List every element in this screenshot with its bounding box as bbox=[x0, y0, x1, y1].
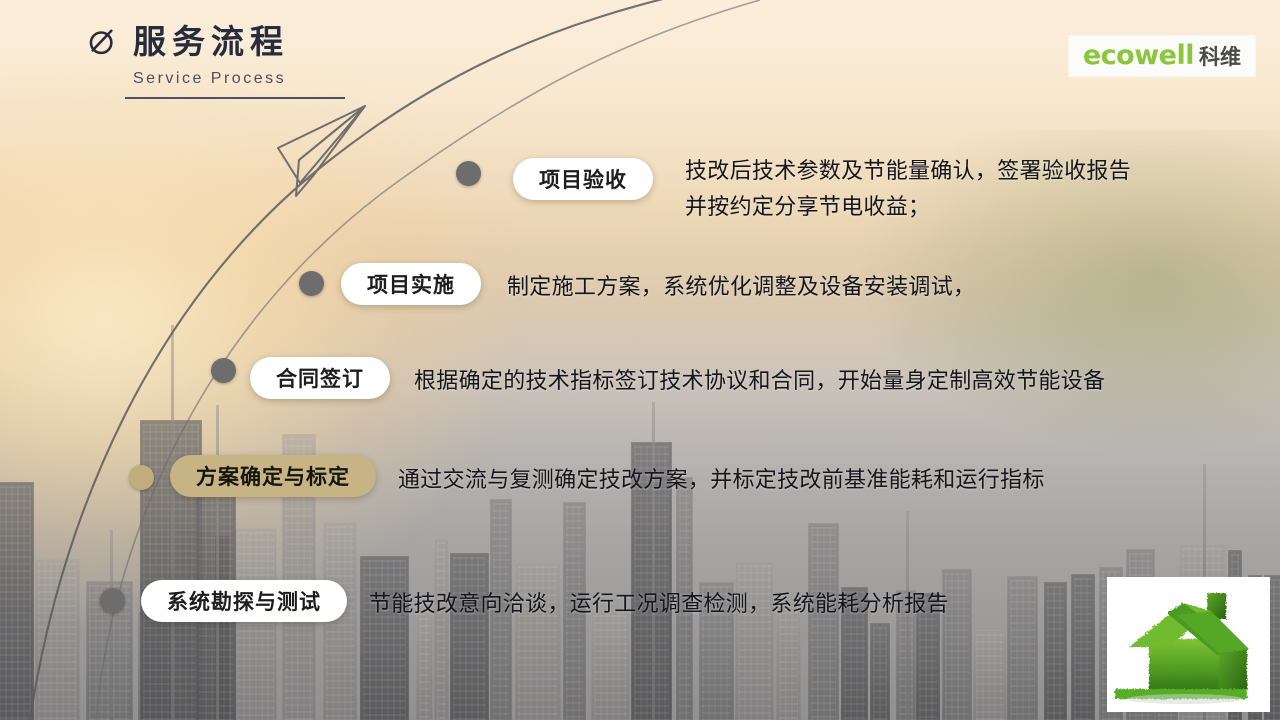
circle-slash-icon bbox=[85, 24, 119, 58]
step-desc-5: 节能技改意向洽谈，运行工况调查检测，系统能耗分析报告 bbox=[369, 587, 949, 623]
step-label-1[interactable]: 项目验收 bbox=[513, 158, 653, 200]
step-node-2 bbox=[299, 271, 324, 296]
page-title: 服务流程 bbox=[133, 25, 289, 58]
page-header: 服务流程 Service Process bbox=[85, 24, 345, 99]
step-5[interactable]: 系统勘探与测试 节能技改意向洽谈，运行工况调查检测，系统能耗分析报告 bbox=[141, 580, 949, 623]
step-desc-4: 通过交流与复测确定技改方案，并标定技改前基准能耗和运行指标 bbox=[398, 463, 1045, 499]
step-2[interactable]: 项目实施 制定施工方案，系统优化调整及设备安装调试， bbox=[341, 263, 975, 306]
brand-name-cn: 科维 bbox=[1199, 47, 1241, 68]
step-3[interactable]: 合同签订 根据确定的技术指标签订技术协议和合同，开始量身定制高效节能设备 bbox=[250, 357, 1105, 400]
brand-name-en: ecowell bbox=[1083, 42, 1194, 69]
step-label-5[interactable]: 系统勘探与测试 bbox=[141, 580, 347, 622]
step-node-1 bbox=[456, 161, 481, 186]
slide-canvas: 服务流程 Service Process ecowell 科维 项目验收 技改后… bbox=[0, 0, 1280, 720]
step-1[interactable]: 项目验收 技改后技术参数及节能量确认，签署验收报告 并按约定分享节电收益； bbox=[513, 158, 1131, 225]
title-underline bbox=[125, 97, 345, 99]
step-node-4 bbox=[129, 465, 154, 490]
step-label-2[interactable]: 项目实施 bbox=[341, 263, 481, 305]
step-node-5 bbox=[100, 588, 125, 613]
step-node-3 bbox=[211, 358, 236, 383]
green-grass-house-icon bbox=[1107, 577, 1270, 712]
step-desc-2: 制定施工方案，系统优化调整及设备安装调试， bbox=[507, 270, 975, 306]
step-desc-3: 根据确定的技术指标签订技术协议和合同，开始量身定制高效节能设备 bbox=[414, 364, 1105, 400]
step-desc-1: 技改后技术参数及节能量确认，签署验收报告 并按约定分享节电收益； bbox=[685, 154, 1131, 225]
eco-house-card bbox=[1107, 577, 1270, 712]
page-subtitle: Service Process bbox=[133, 70, 345, 88]
step-4[interactable]: 方案确定与标定 通过交流与复测确定技改方案，并标定技改前基准能耗和运行指标 bbox=[170, 455, 1045, 499]
brand-logo: ecowell 科维 bbox=[1069, 36, 1255, 76]
step-label-4[interactable]: 方案确定与标定 bbox=[170, 455, 376, 497]
title-row: 服务流程 bbox=[85, 24, 345, 58]
step-label-3[interactable]: 合同签订 bbox=[250, 357, 390, 399]
